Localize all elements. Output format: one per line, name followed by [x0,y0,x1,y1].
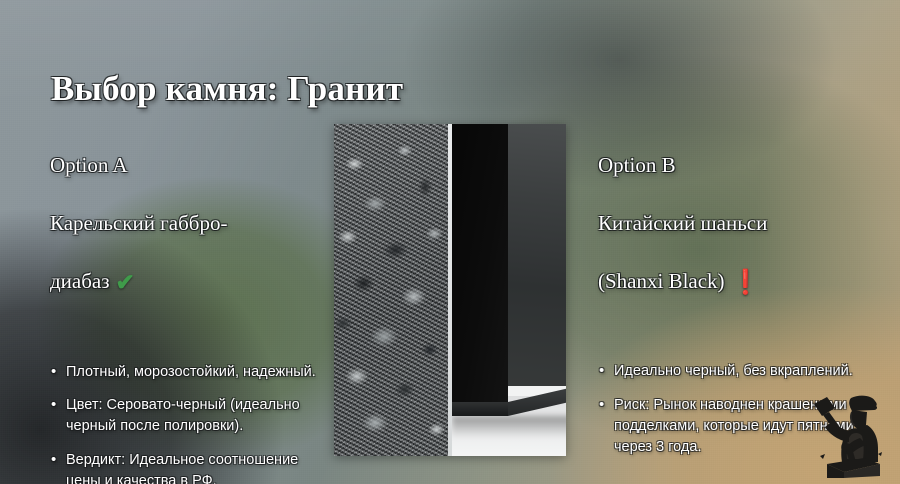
option-b-stone-name-line2: (Shanxi Black) [598,269,725,293]
option-b-label: Option B [598,151,883,180]
option-a-bullet-list: Плотный, морозостойкий, надежный. Цвет: … [50,362,335,484]
list-item: Цвет: Серовато-черный (идеально черный п… [50,395,335,437]
option-a-stone-name-line1: Карельский габбро- [50,209,335,238]
list-item: Идеально черный, без вкраплений. [598,361,883,382]
slab-front-face [452,124,508,402]
black-granite-panel [452,124,566,456]
exclamation-mark-icon: ❗ [731,267,761,300]
slab-shadow [452,416,566,438]
option-b-stone-name-line1: Китайский шаньси [598,209,883,238]
slab-side-face [508,124,566,386]
slide-canvas: Выбор камня: Гранит Option A Карельский … [0,0,900,484]
list-item: Плотный, морозостойкий, надежный. [50,362,335,383]
check-mark-icon: ✔ [116,267,135,299]
option-a-label: Option A [50,151,335,180]
option-b-heading: Option B Китайский шаньси (Shanxi Black)… [598,122,883,329]
stonemason-logo [794,382,886,478]
speckled-granite-panel [334,124,448,456]
option-a-heading: Option A Карельский габбро- диабаз✔ [50,122,335,328]
option-b-stone-name-line2-row: (Shanxi Black)❗ [598,267,883,300]
option-a-stone-name-line2-row: диабаз✔ [50,267,335,299]
option-a-column: Option A Карельский габбро- диабаз✔ Плот… [50,122,335,484]
list-item: Вердикт: Идеальное соотношение цены и ка… [50,450,335,484]
granite-comparison-photo [334,124,566,456]
page-title: Выбор камня: Гранит [51,70,403,109]
slab-front-bevel [452,402,508,416]
option-a-stone-name-line2: диабаз [50,269,110,293]
